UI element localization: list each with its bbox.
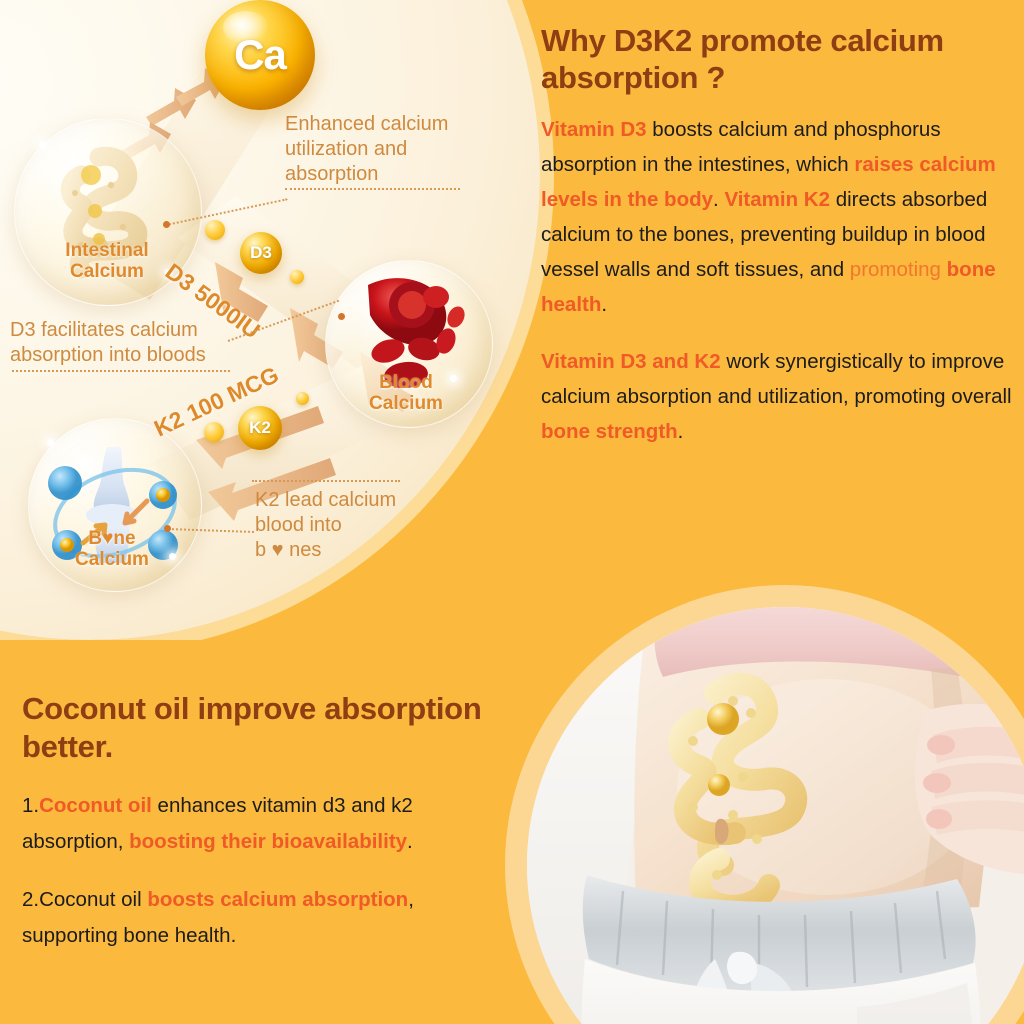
leader-dot [338,313,345,320]
text-run: 1. [22,794,39,817]
right-paragraph-1: Vitamin D3 boosts calcium and phosphorus… [541,112,1019,322]
bubble-sparkle [47,439,54,446]
droplet [204,422,224,442]
leader-line [285,188,460,190]
k2-pill: K2 [238,406,282,450]
bottom-text-column: Coconut oil improve absorption better. 1… [22,690,492,976]
annotation-enhanced-absorption: Enhanced calcium utilization and absorpt… [285,112,515,187]
leader-line [252,480,400,482]
diagram-panel: Ca [0,0,560,640]
blood-calcium-label: Blood Calcium [306,372,506,414]
right-paragraph-2: Vitamin D3 and K2 work synergistically t… [541,344,1019,449]
leader-dot [163,221,170,228]
leader-dot [164,525,171,532]
ca-sphere: Ca [205,0,315,110]
right-text-column: Why D3K2 promote calcium absorption ? Vi… [541,22,1019,471]
text-run: . [713,188,724,211]
droplet [205,220,225,240]
text-run: Vitamin D3 and K2 [541,350,721,373]
bottom-section-title: Coconut oil improve absorption better. [22,690,492,766]
calcium-flow-diagram: Ca [0,0,560,640]
bottom-item-2: 2.Coconut oil boosts calcium absorption,… [22,882,492,954]
text-run: promoting [850,258,947,281]
abdomen-photo-illustration [527,607,1024,1024]
annotation-d3-facilitates: D3 facilitates calcium absorption into b… [10,318,240,368]
bone-calcium-label: B♥ne Calcium [12,528,212,570]
bottom-item-1: 1.Coconut oil enhances vitamin d3 and k2… [22,788,492,860]
bubble-sparkle [39,141,46,148]
droplet [290,270,304,284]
text-run: . [601,293,607,316]
ca-sphere-label: Ca [234,31,286,79]
text-run: boosts calcium absorption [147,888,408,911]
text-run: Vitamin K2 [724,188,830,211]
text-run: 2.Coconut oil [22,888,147,911]
text-run: Coconut oil [39,794,152,817]
text-run: . [678,420,684,443]
d3-pill: D3 [240,232,282,274]
leader-line [12,370,230,372]
text-run: . [407,830,413,853]
text-run: bone strength [541,420,678,443]
text-run: boosting their bioavailability [129,830,407,853]
abdomen-photo [527,607,1024,1024]
infographic-page: Ca [0,0,1024,1024]
annotation-k2-lead: K2 lead calcium blood into b ♥ nes [255,488,475,563]
droplet [296,392,309,405]
text-run: Vitamin D3 [541,118,647,141]
right-section-title: Why D3K2 promote calcium absorption ? [541,22,1019,96]
